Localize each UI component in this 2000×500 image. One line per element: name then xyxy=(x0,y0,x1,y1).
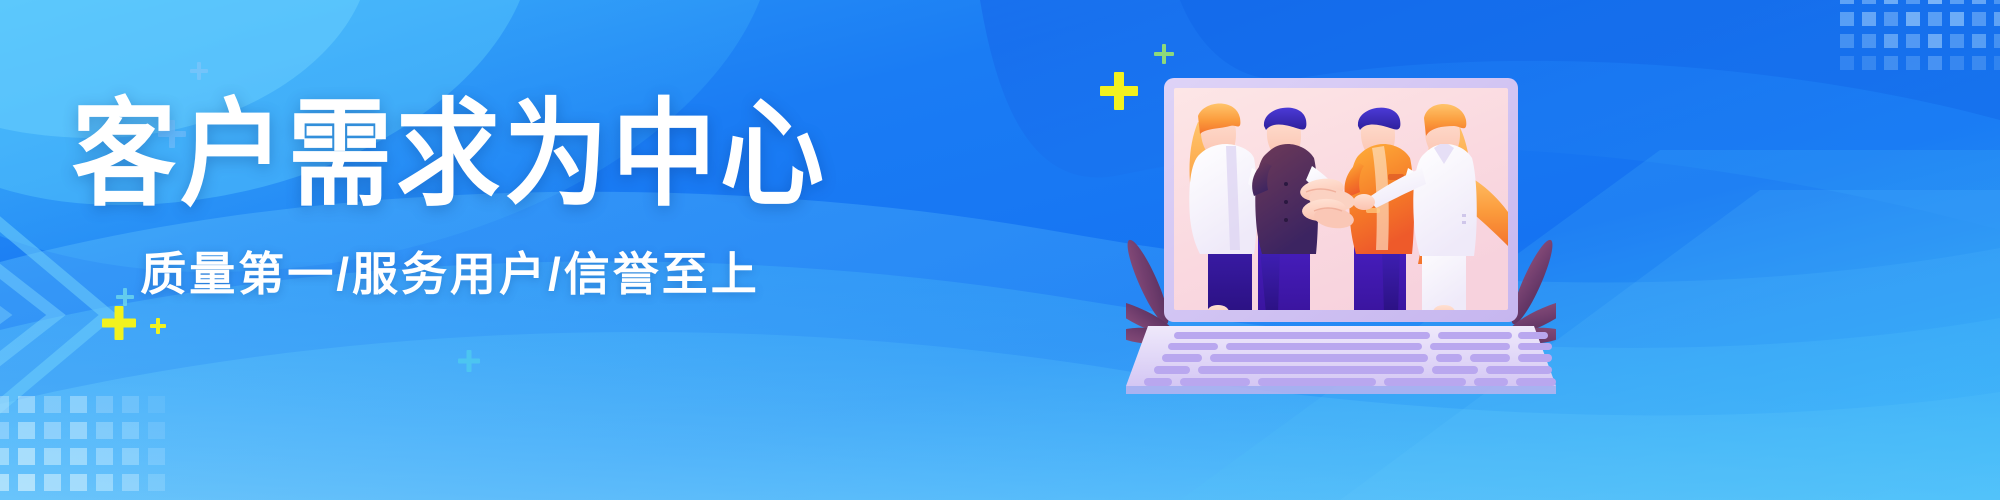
dot-grid-top-right xyxy=(1840,0,2000,78)
page-title: 客户需求为中心 xyxy=(0,96,900,215)
banner-copy: 客户需求为中心 质量第一/服务用户/信誉至上 xyxy=(0,96,900,304)
dot-grid-bottom-left xyxy=(0,396,174,500)
cross-white-top-a-icon xyxy=(190,62,208,80)
cross-yellow-bottom-icon xyxy=(102,306,136,340)
page-subtitle: 质量第一/服务用户/信誉至上 xyxy=(0,238,900,304)
hero-banner: 客户需求为中心 质量第一/服务用户/信誉至上 xyxy=(0,0,2000,500)
laptop-team-illustration xyxy=(1126,50,1556,400)
cross-yellow-bottom-small-icon xyxy=(150,318,166,334)
cross-cyan-mid-icon xyxy=(458,350,480,372)
